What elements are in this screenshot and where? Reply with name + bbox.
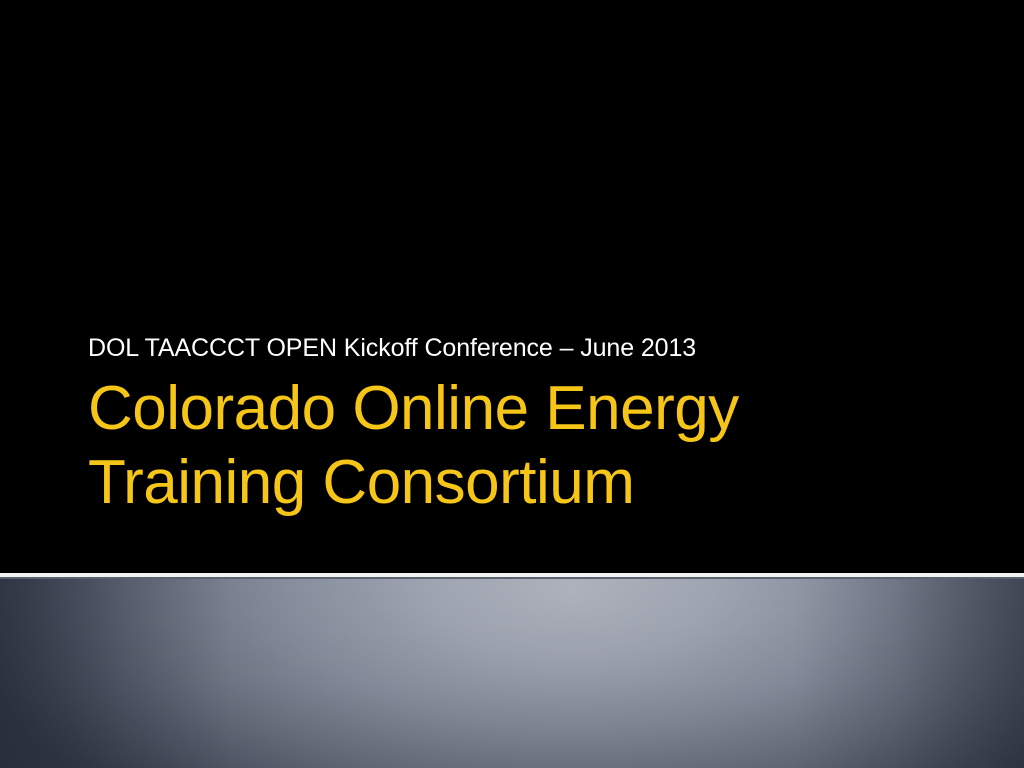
title-block: DOL TAACCCT OPEN Kickoff Conference – Ju… [88, 333, 948, 520]
title-slide: DOL TAACCCT OPEN Kickoff Conference – Ju… [0, 0, 1024, 768]
footer-band-left-vignette [0, 579, 230, 768]
slide-title-line-1: Colorado Online Energy [88, 372, 808, 446]
slide-subtitle: DOL TAACCCT OPEN Kickoff Conference – Ju… [88, 333, 948, 363]
slide-title: Colorado Online Energy Training Consorti… [88, 372, 808, 520]
footer-band-right-vignette [794, 579, 1024, 768]
slide-title-line-2: Training Consortium [88, 446, 808, 520]
